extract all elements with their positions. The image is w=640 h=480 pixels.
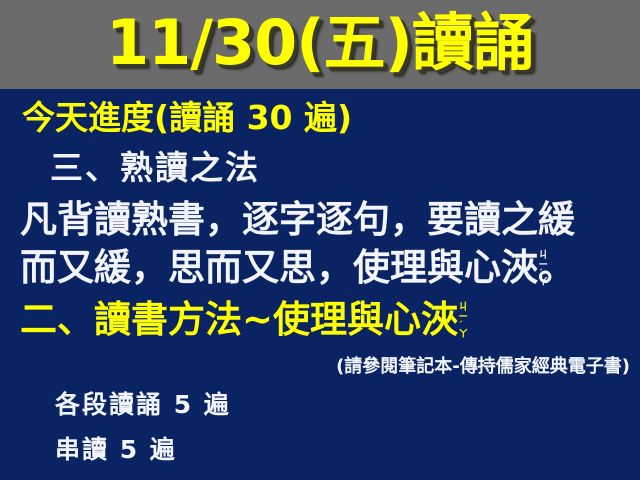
- continuous-reading-text: 串讀 5 遍: [55, 437, 177, 462]
- slide-root: 11/30(五)讀誦 今天進度(讀誦 30 遍) 三、熟讀之法 凡背讀熟書，逐字…: [0, 0, 640, 480]
- body-line-two-prefix: 而又緩，思而又思，使理與心: [20, 246, 501, 289]
- bopomofo-medial-row: ㄧˊ: [538, 261, 548, 279]
- bopomofo-ruby-marks: ㄐㄧˊㄚ: [538, 251, 548, 287]
- ruby-annotated-character: 浹ㄐㄧˊㄚ: [421, 301, 458, 338]
- reference-note-text: (請參閱筆記本-傳持儒家經典電子書): [336, 358, 630, 376]
- each-section-reading-text: 各段讀誦 5 遍: [55, 392, 231, 417]
- slide-header-band: 11/30(五)讀誦: [0, 0, 640, 89]
- bopomofo-final: ㄚ: [538, 278, 548, 287]
- body-line-one-text: 凡背讀熟書，逐字逐句，要讀之緩: [20, 201, 575, 238]
- today-progress-text: 今天進度(讀誦 30 遍): [22, 101, 352, 134]
- ruby-base-character: 浹: [421, 298, 458, 341]
- bopomofo-medial-row: ㄧˊ: [458, 313, 468, 331]
- bopomofo-final: ㄚ: [458, 330, 468, 339]
- ruby-annotated-character: 浹ㄐㄧˊㄚ: [501, 249, 538, 286]
- ruby-base-character: 浹: [501, 246, 538, 289]
- method-heading-text: 三、熟讀之法: [50, 151, 260, 184]
- section-heading-prefix: 二、讀書方法~使理與心: [20, 298, 421, 341]
- slide-body: 今天進度(讀誦 30 遍) 三、熟讀之法 凡背讀熟書，逐字逐句，要讀之緩 而又緩…: [0, 89, 640, 480]
- bopomofo-ruby-marks: ㄐㄧˊㄚ: [458, 303, 468, 339]
- section-heading-line: 二、讀書方法~使理與心浹ㄐㄧˊㄚ: [20, 301, 458, 338]
- body-line-two: 而又緩，思而又思，使理與心浹ㄐㄧˊㄚ。: [20, 249, 575, 286]
- page-title: 11/30(五)讀誦: [106, 12, 534, 74]
